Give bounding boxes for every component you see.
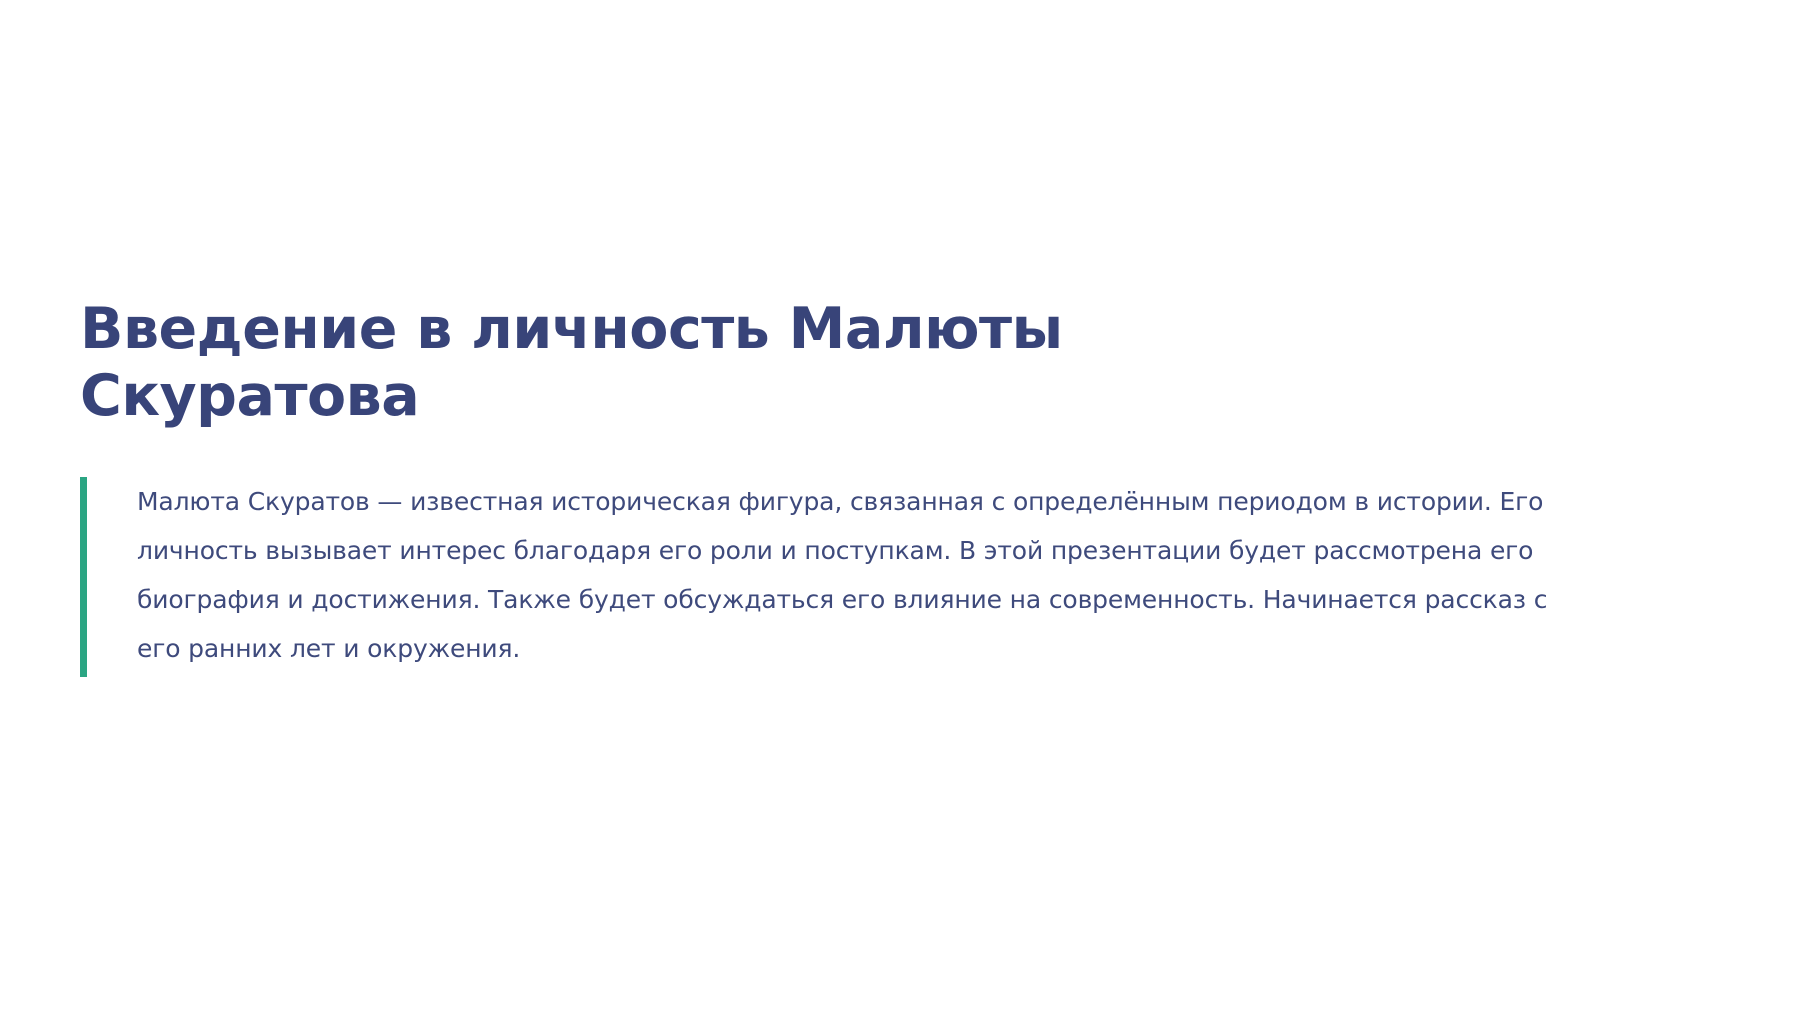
page-title: Введение в личность Малюты Скуратова [80, 296, 1390, 431]
body-block: Малюта Скуратов — известная историческая… [80, 477, 1740, 677]
accent-bar [80, 477, 87, 677]
slide-content: Введение в личность Малюты Скуратова Мал… [80, 296, 1740, 677]
presentation-slide: Введение в личность Малюты Скуратова Мал… [0, 0, 1800, 1013]
body-paragraph: Малюта Скуратов — известная историческая… [137, 477, 1577, 673]
